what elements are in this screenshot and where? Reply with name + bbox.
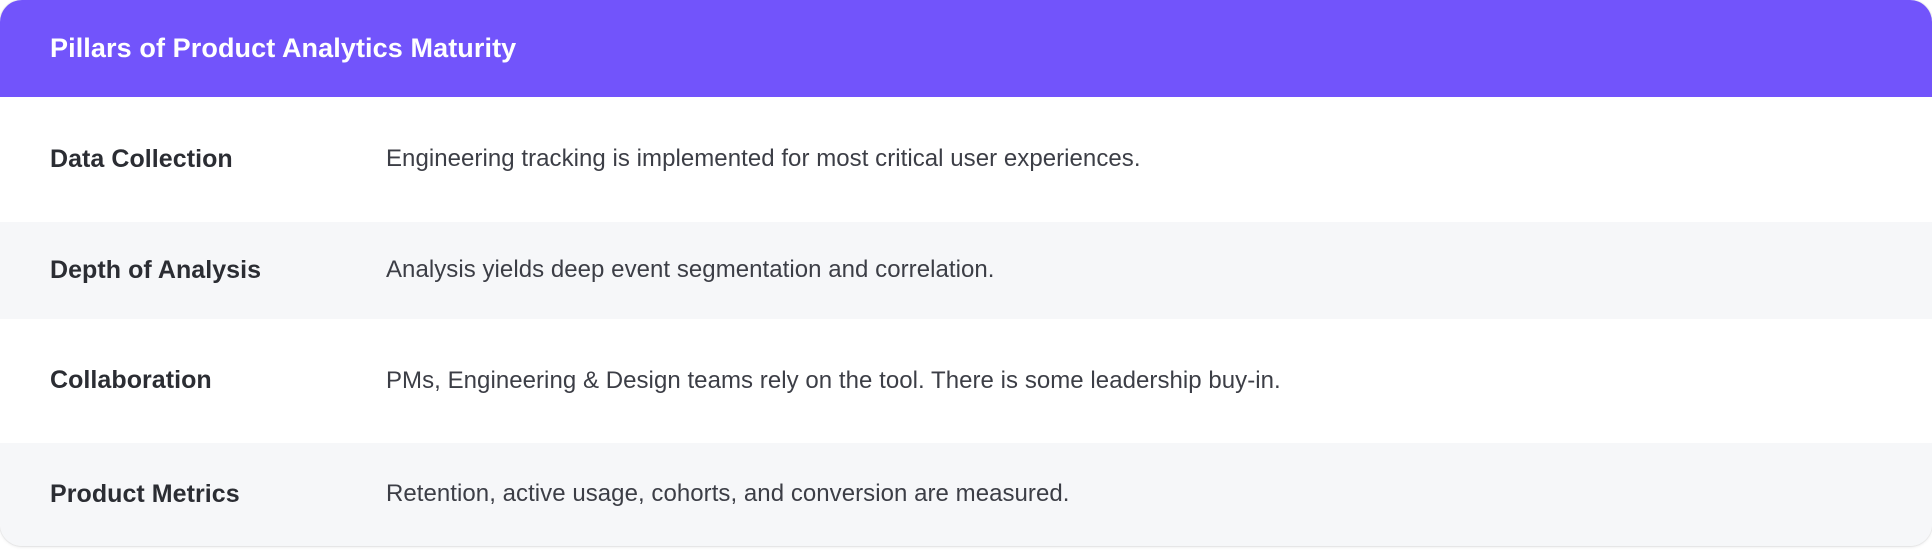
pillar-row: Product MetricsRetention, active usage, … bbox=[0, 443, 1932, 546]
pillar-label: Product Metrics bbox=[50, 479, 386, 510]
pillar-description: Analysis yields deep event segmentation … bbox=[386, 254, 1892, 286]
card-header: Pillars of Product Analytics Maturity bbox=[0, 0, 1932, 97]
pillar-description: Retention, active usage, cohorts, and co… bbox=[386, 478, 1892, 510]
pillar-description: PMs, Engineering & Design teams rely on … bbox=[386, 365, 1892, 397]
pillar-row: CollaborationPMs, Engineering & Design t… bbox=[0, 319, 1932, 443]
card-title: Pillars of Product Analytics Maturity bbox=[50, 32, 516, 64]
pillar-label: Data Collection bbox=[50, 144, 386, 175]
pillar-row: Depth of AnalysisAnalysis yields deep ev… bbox=[0, 222, 1932, 319]
pillar-label: Collaboration bbox=[50, 365, 386, 396]
pillar-description: Engineering tracking is implemented for … bbox=[386, 143, 1892, 175]
pillars-row-list: Data CollectionEngineering tracking is i… bbox=[0, 97, 1932, 546]
pillars-card: Pillars of Product Analytics Maturity Da… bbox=[0, 0, 1932, 546]
pillar-label: Depth of Analysis bbox=[50, 255, 386, 286]
pillar-row: Data CollectionEngineering tracking is i… bbox=[0, 97, 1932, 222]
